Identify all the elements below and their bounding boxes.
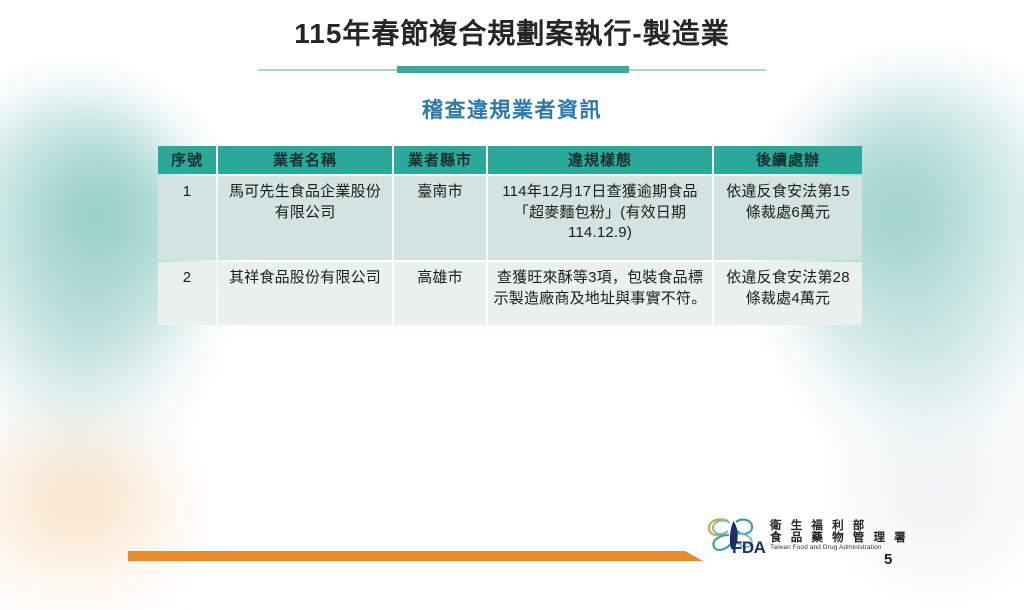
table-row: 2 其祥食品股份有限公司 高雄市 查獲旺來酥等3項，包裝食品標示製造廠商及地址與… (158, 262, 862, 325)
cell-action: 依違反食安法第28條裁處4萬元 (714, 262, 862, 325)
cell-violation: 查獲旺來酥等3項，包裝食品標示製造廠商及地址與事實不符。 (488, 262, 712, 325)
cell-business-name: 馬可先生食品企業股份有限公司 (218, 176, 392, 260)
page-number: 5 (884, 551, 892, 568)
column-header-business-name: 業者名稱 (218, 146, 392, 174)
cell-city: 高雄市 (394, 262, 486, 325)
fda-wordmark: FDA (732, 538, 765, 558)
fda-logo: FDA 衛 生 福 利 部 食 品 藥 物 管 理 署 Taiwan Food … (706, 514, 876, 558)
title-divider (258, 66, 766, 74)
cell-sequence: 2 (158, 262, 216, 325)
divider-thick-line (397, 66, 629, 73)
fda-butterfly-icon: FDA (706, 515, 768, 557)
fda-org-text: 衛 生 福 利 部 食 品 藥 物 管 理 署 Taiwan Food and … (770, 520, 909, 552)
cell-violation: 114年12月17日查獲逾期食品「超麥麵包粉」(有效日期114.12.9) (488, 176, 712, 260)
section-subtitle: 稽查違規業者資訊 (0, 94, 1024, 124)
slide-content: 115年春節複合規劃案執行-製造業 稽查違規業者資訊 序號 業者名稱 業者縣市 … (0, 0, 1024, 576)
cell-business-name-text: 馬可先生食品企業股份有限公司 (223, 182, 387, 223)
footer-accent-bar (128, 551, 703, 561)
fda-org-line-1: 衛 生 福 利 部 (770, 520, 909, 532)
table-row: 1 馬可先生食品企業股份有限公司 臺南市 114年12月17日查獲逾期食品「超麥… (158, 176, 862, 260)
cell-action-text: 依違反食安法第15條裁處6萬元 (719, 182, 857, 223)
column-header-city: 業者縣市 (394, 146, 486, 174)
fda-org-line-2: 食 品 藥 物 管 理 署 (770, 532, 909, 544)
column-header-action: 後續處辦 (714, 146, 862, 174)
cell-sequence: 1 (158, 176, 216, 260)
cell-violation-text: 114年12月17日查獲逾期食品「超麥麵包粉」(有效日期114.12.9) (493, 182, 707, 244)
cell-action: 依違反食安法第15條裁處6萬元 (714, 176, 862, 260)
cell-business-name-text: 其祥食品股份有限公司 (223, 268, 387, 289)
cell-sequence-text: 1 (163, 182, 211, 203)
table-header-row: 序號 業者名稱 業者縣市 違規樣態 後續處辦 (158, 146, 862, 174)
violation-business-table: 序號 業者名稱 業者縣市 違規樣態 後續處辦 1 馬可先生食品企業股份有限公司 … (156, 144, 864, 327)
cell-business-name: 其祥食品股份有限公司 (218, 262, 392, 325)
cell-sequence-text: 2 (163, 268, 211, 289)
column-header-sequence: 序號 (158, 146, 216, 174)
cell-action-text: 依違反食安法第28條裁處4萬元 (719, 268, 857, 309)
page-title: 115年春節複合規劃案執行-製造業 (0, 17, 1024, 51)
cell-city: 臺南市 (394, 176, 486, 260)
cell-city-text: 高雄市 (399, 268, 481, 289)
column-header-violation: 違規樣態 (488, 146, 712, 174)
cell-city-text: 臺南市 (399, 182, 481, 203)
cell-violation-text: 查獲旺來酥等3項，包裝食品標示製造廠商及地址與事實不符。 (493, 268, 707, 309)
